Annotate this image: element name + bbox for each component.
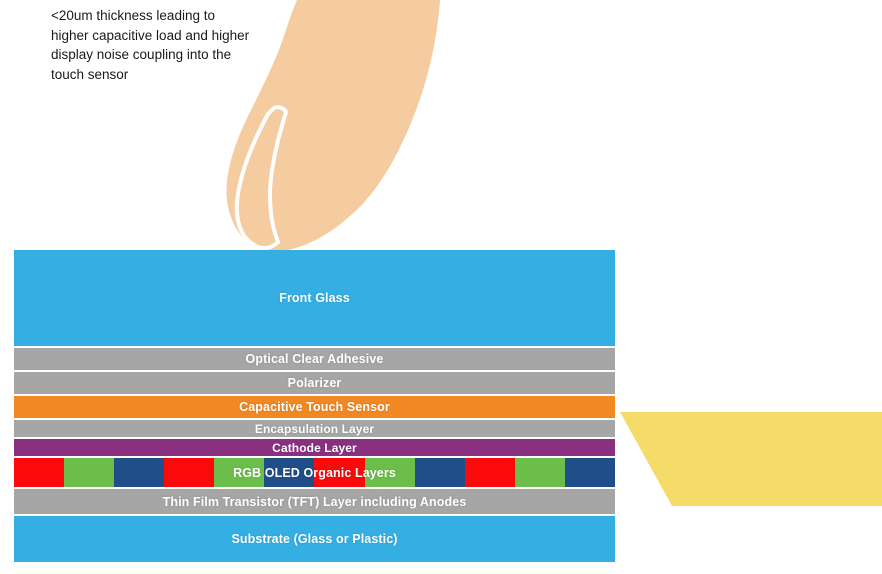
display-layer-stack: Front Glass Optical Clear Adhesive Polar… (14, 250, 615, 562)
layer-substrate[interactable]: Substrate (Glass or Plastic) (14, 516, 615, 562)
layer-front-glass[interactable]: Front Glass (14, 250, 615, 346)
layer-rgb-oled-organic[interactable]: RGB OLED Organic Layers (14, 458, 615, 487)
layer-label-front-glass: Front Glass (279, 291, 350, 305)
layer-label-substrate: Substrate (Glass or Plastic) (231, 532, 397, 546)
layer-label-rgb-oled-organic: RGB OLED Organic Layers (233, 466, 396, 480)
layer-label-optical-clear-adhesive: Optical Clear Adhesive (246, 352, 384, 366)
layer-cathode[interactable]: Cathode Layer (14, 439, 615, 456)
rgb-subpixel-red (14, 458, 64, 487)
rgb-subpixel-green (515, 458, 565, 487)
layer-label-cathode: Cathode Layer (272, 441, 357, 455)
rgb-subpixel-green (64, 458, 114, 487)
layer-label-encapsulation: Encapsulation Layer (255, 422, 374, 436)
layer-label-polarizer: Polarizer (288, 376, 342, 390)
layer-encapsulation[interactable]: Encapsulation Layer (14, 420, 615, 437)
rgb-subpixel-blue (415, 458, 465, 487)
callout-text: <20um thickness leading to higher capaci… (51, 6, 253, 84)
callout-box[interactable] (620, 412, 882, 506)
rgb-subpixel-blue (114, 458, 164, 487)
layer-optical-clear-adhesive[interactable]: Optical Clear Adhesive (14, 348, 615, 370)
layer-polarizer[interactable]: Polarizer (14, 372, 615, 394)
rgb-subpixel-red (465, 458, 515, 487)
diagram-canvas: Front Glass Optical Clear Adhesive Polar… (0, 0, 882, 574)
rgb-subpixel-blue (565, 458, 615, 487)
layer-tft[interactable]: Thin Film Transistor (TFT) Layer includi… (14, 489, 615, 514)
layer-capacitive-touch-sensor[interactable]: Capacitive Touch Sensor (14, 396, 615, 418)
layer-label-capacitive-touch-sensor: Capacitive Touch Sensor (239, 400, 390, 414)
rgb-subpixel-red (164, 458, 214, 487)
layer-label-tft: Thin Film Transistor (TFT) Layer includi… (163, 495, 467, 509)
